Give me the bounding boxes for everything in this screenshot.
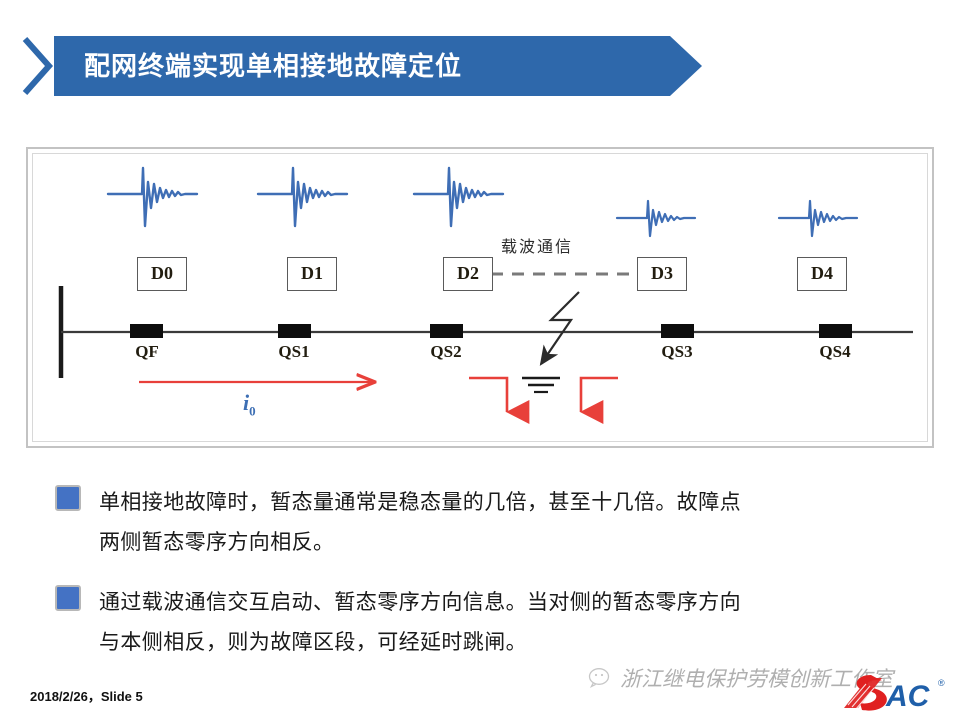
bullet-1-line-2: 两侧暂态零序方向相反。	[99, 523, 741, 563]
switch-label-qf: QF	[122, 342, 172, 362]
bullet-1-line-1: 单相接地故障时，暂态量通常是稳态量的几倍，甚至十几倍。故障点	[99, 483, 741, 523]
sac-logo-registered-mark: ®	[938, 678, 945, 688]
sac-logo-name: AC	[885, 680, 931, 713]
switch-block-qf	[130, 324, 163, 338]
sac-brand-logo: AC ®	[838, 672, 950, 714]
bullet-text-2: 通过载波通信交互启动、暂态零序方向信息。当对侧的暂态零序方向 与本侧相反，则为故…	[99, 583, 741, 663]
bullet-2-line-2: 与本侧相反，则为故障区段，可经延时跳闸。	[99, 623, 741, 663]
bullet-marker-2	[55, 585, 81, 611]
bullet-2-line-1: 通过载波通信交互启动、暂态零序方向信息。当对侧的暂态零序方向	[99, 583, 741, 623]
waveform-d1	[258, 168, 347, 226]
zero-sequence-current-label: i0	[243, 390, 256, 419]
device-box-d3[interactable]: D3	[637, 257, 687, 291]
title-chevron-icon	[22, 36, 56, 96]
switch-label-qs1: QS1	[269, 342, 319, 362]
switch-label-qs4: QS4	[810, 342, 860, 362]
waveform-d4	[779, 201, 857, 236]
ground-symbol	[522, 378, 560, 392]
device-box-d4[interactable]: D4	[797, 257, 847, 291]
carrier-communication-label: 载波通信	[501, 233, 573, 257]
bullet-item-1: 单相接地故障时，暂态量通常是稳态量的几倍，甚至十几倍。故障点 两侧暂态零序方向相…	[55, 483, 915, 563]
footer-date-slide-number: 2018/2/26，Slide 5	[30, 686, 143, 705]
switch-label-qs2: QS2	[421, 342, 471, 362]
device-box-d2[interactable]: D2	[443, 257, 493, 291]
i0-subscript: 0	[249, 403, 256, 418]
switch-block-qs4	[819, 324, 852, 338]
page-title: 配网终端实现单相接地故障定位	[84, 36, 462, 96]
diagram-canvas: D0 D1 D2 D3 D4 QF QS1 QS2 QS3 QS4 载波通信 i…	[32, 153, 928, 442]
device-box-d0[interactable]: D0	[137, 257, 187, 291]
fault-zigzag-arrow	[541, 292, 579, 364]
wechat-icon	[588, 667, 614, 689]
zero-seq-arrow-left	[469, 378, 507, 412]
switch-block-qs1	[278, 324, 311, 338]
waveform-d2	[414, 168, 503, 226]
bullet-marker-1	[55, 485, 81, 511]
switch-block-qs2	[430, 324, 463, 338]
waveform-d3	[617, 201, 695, 236]
bullet-item-2: 通过载波通信交互启动、暂态零序方向信息。当对侧的暂态零序方向 与本侧相反，则为故…	[55, 583, 915, 663]
diagram-frame: D0 D1 D2 D3 D4 QF QS1 QS2 QS3 QS4 载波通信 i…	[26, 147, 934, 448]
zero-seq-arrow-right	[581, 378, 618, 412]
device-box-d1[interactable]: D1	[287, 257, 337, 291]
waveform-d0	[108, 168, 197, 226]
diagram-graphics	[33, 154, 928, 442]
sac-logo-s-mark	[844, 675, 887, 711]
slide-title-bar: 配网终端实现单相接地故障定位	[22, 36, 702, 96]
switch-block-qs3	[661, 324, 694, 338]
switch-label-qs3: QS3	[652, 342, 702, 362]
bullet-text-1: 单相接地故障时，暂态量通常是稳态量的几倍，甚至十几倍。故障点 两侧暂态零序方向相…	[99, 483, 741, 563]
